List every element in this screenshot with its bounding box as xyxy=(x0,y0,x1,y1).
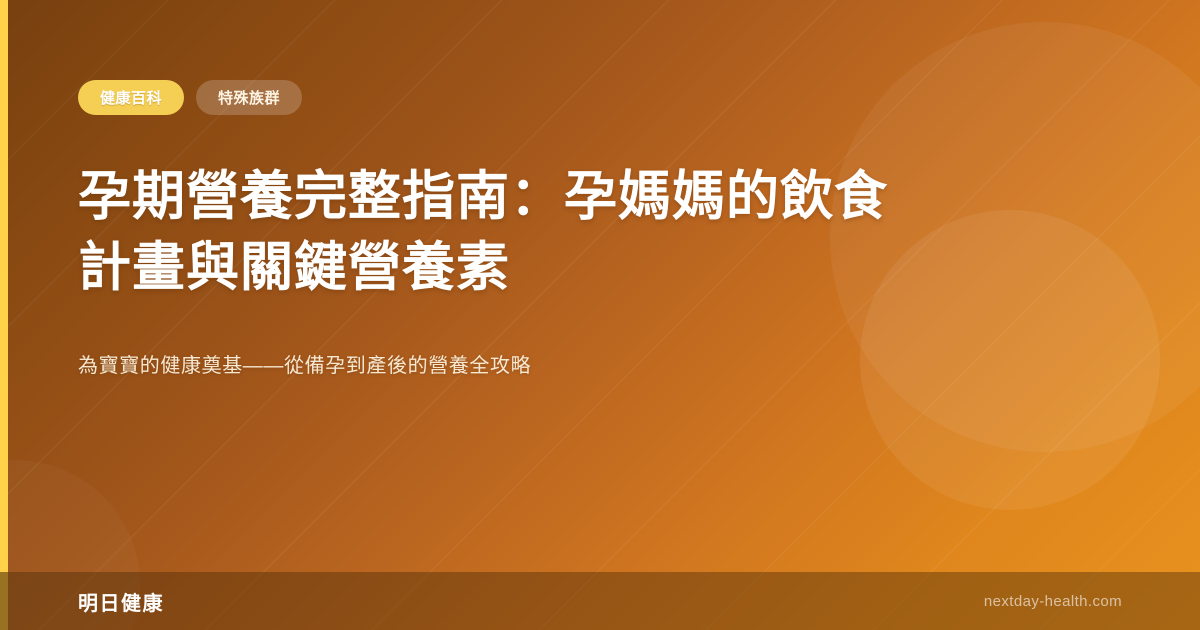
og-share-card: 健康百科 特殊族群 孕期營養完整指南：孕媽媽的飲食計畫與關鍵營養素 為寶寶的健康… xyxy=(0,0,1200,630)
badge-group: 健康百科 特殊族群 xyxy=(78,80,1018,115)
page-title: 孕期營養完整指南：孕媽媽的飲食計畫與關鍵營養素 xyxy=(78,161,908,303)
card-footer: 明日健康 nextday-health.com xyxy=(0,572,1200,630)
footer-domain: nextday-health.com xyxy=(984,593,1122,610)
footer-brand-name: 明日健康 xyxy=(78,587,164,616)
page-subtitle: 為寶寶的健康奠基——從備孕到產後的營養全攻略 xyxy=(78,351,1018,381)
left-accent-bar-footer-overlay xyxy=(0,572,8,630)
left-accent-bar xyxy=(0,0,8,630)
badge-category-secondary[interactable]: 特殊族群 xyxy=(196,80,302,115)
card-content: 健康百科 特殊族群 孕期營養完整指南：孕媽媽的飲食計畫與關鍵營養素 為寶寶的健康… xyxy=(78,0,1018,572)
badge-category-primary[interactable]: 健康百科 xyxy=(78,80,184,115)
